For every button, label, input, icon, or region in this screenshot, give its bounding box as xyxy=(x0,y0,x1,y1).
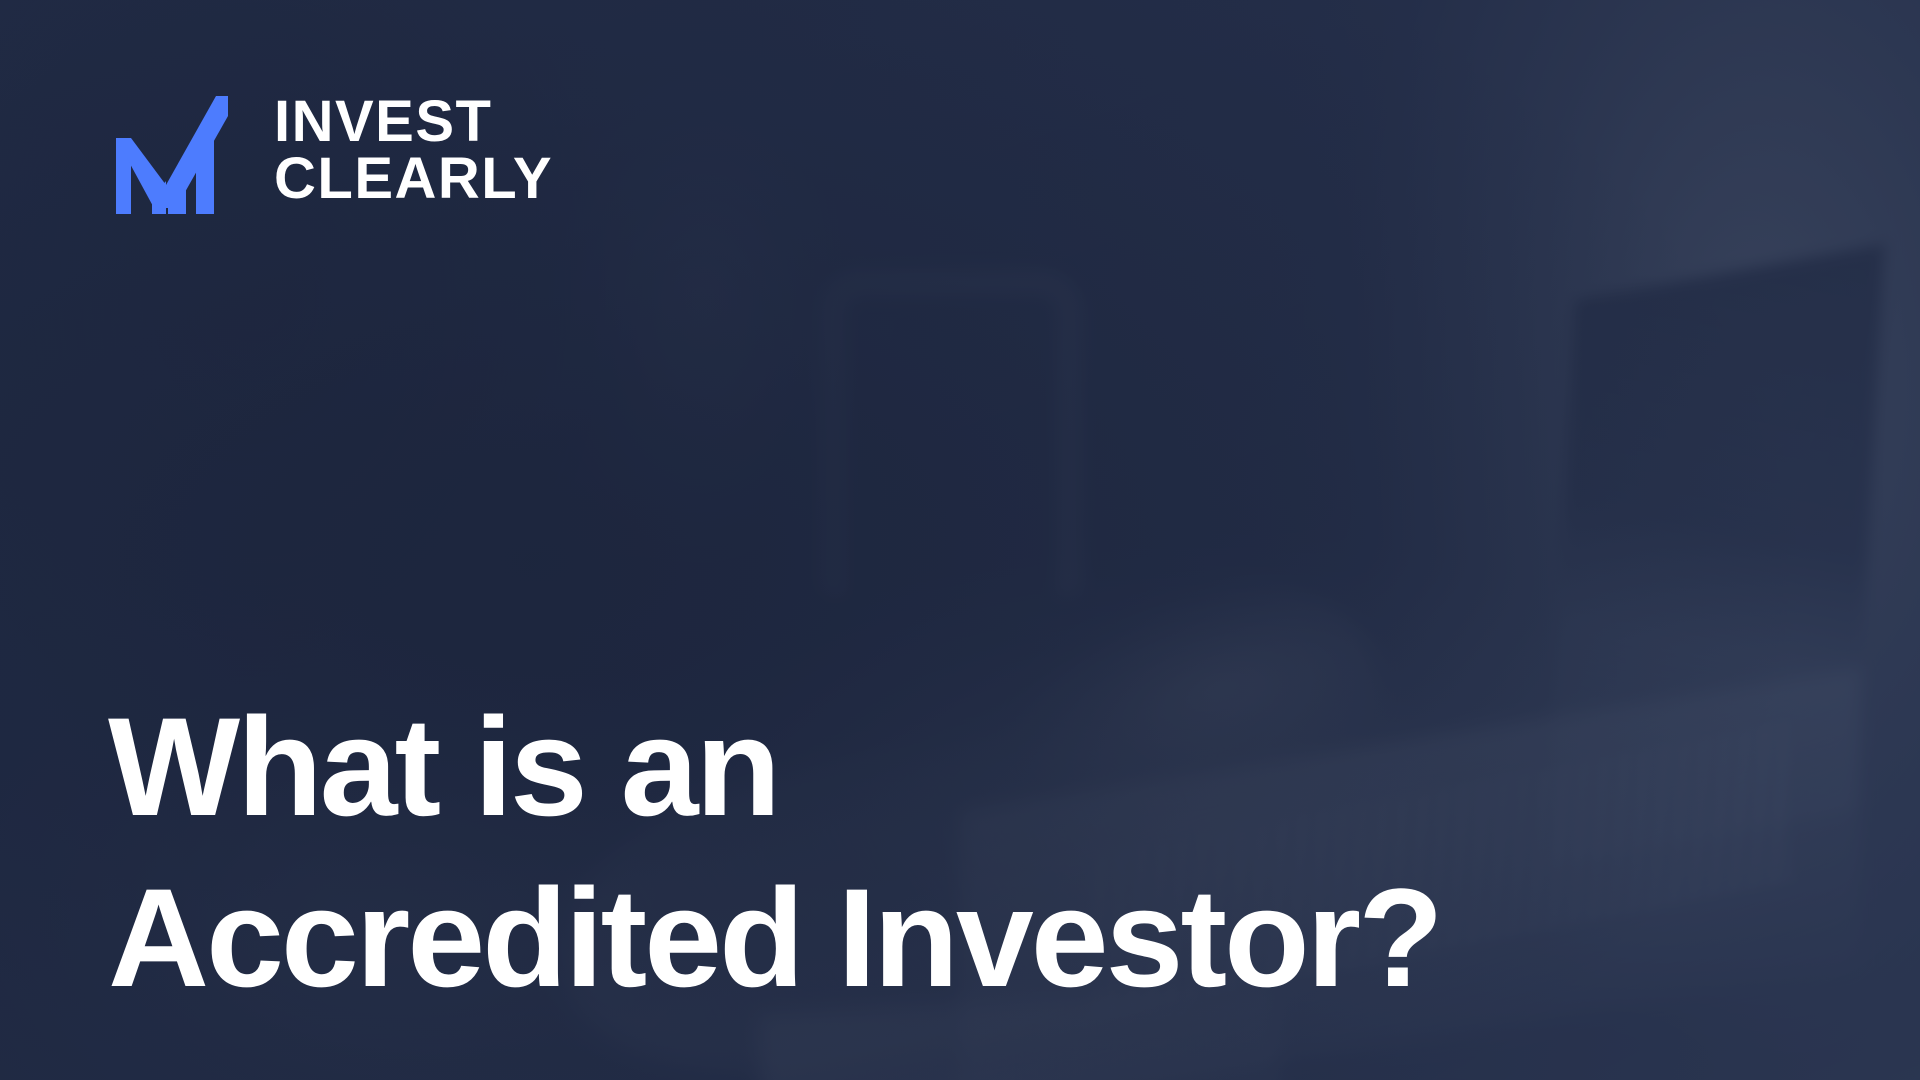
brand-logo-lockup[interactable]: INVEST CLEARLY xyxy=(104,86,553,214)
rising-bar-chart-checkmark-icon xyxy=(104,86,228,214)
wordmark-line-clearly: CLEARLY xyxy=(274,150,553,207)
headline-line-1: What is an xyxy=(108,682,1441,853)
brand-wordmark: INVEST CLEARLY xyxy=(274,93,553,208)
hero-banner: INVEST CLEARLY What is an Accredited Inv… xyxy=(0,0,1920,1080)
headline-line-2: Accredited Investor? xyxy=(108,853,1441,1024)
wordmark-line-invest: INVEST xyxy=(274,93,553,150)
hero-headline: What is an Accredited Investor? xyxy=(108,682,1441,1024)
